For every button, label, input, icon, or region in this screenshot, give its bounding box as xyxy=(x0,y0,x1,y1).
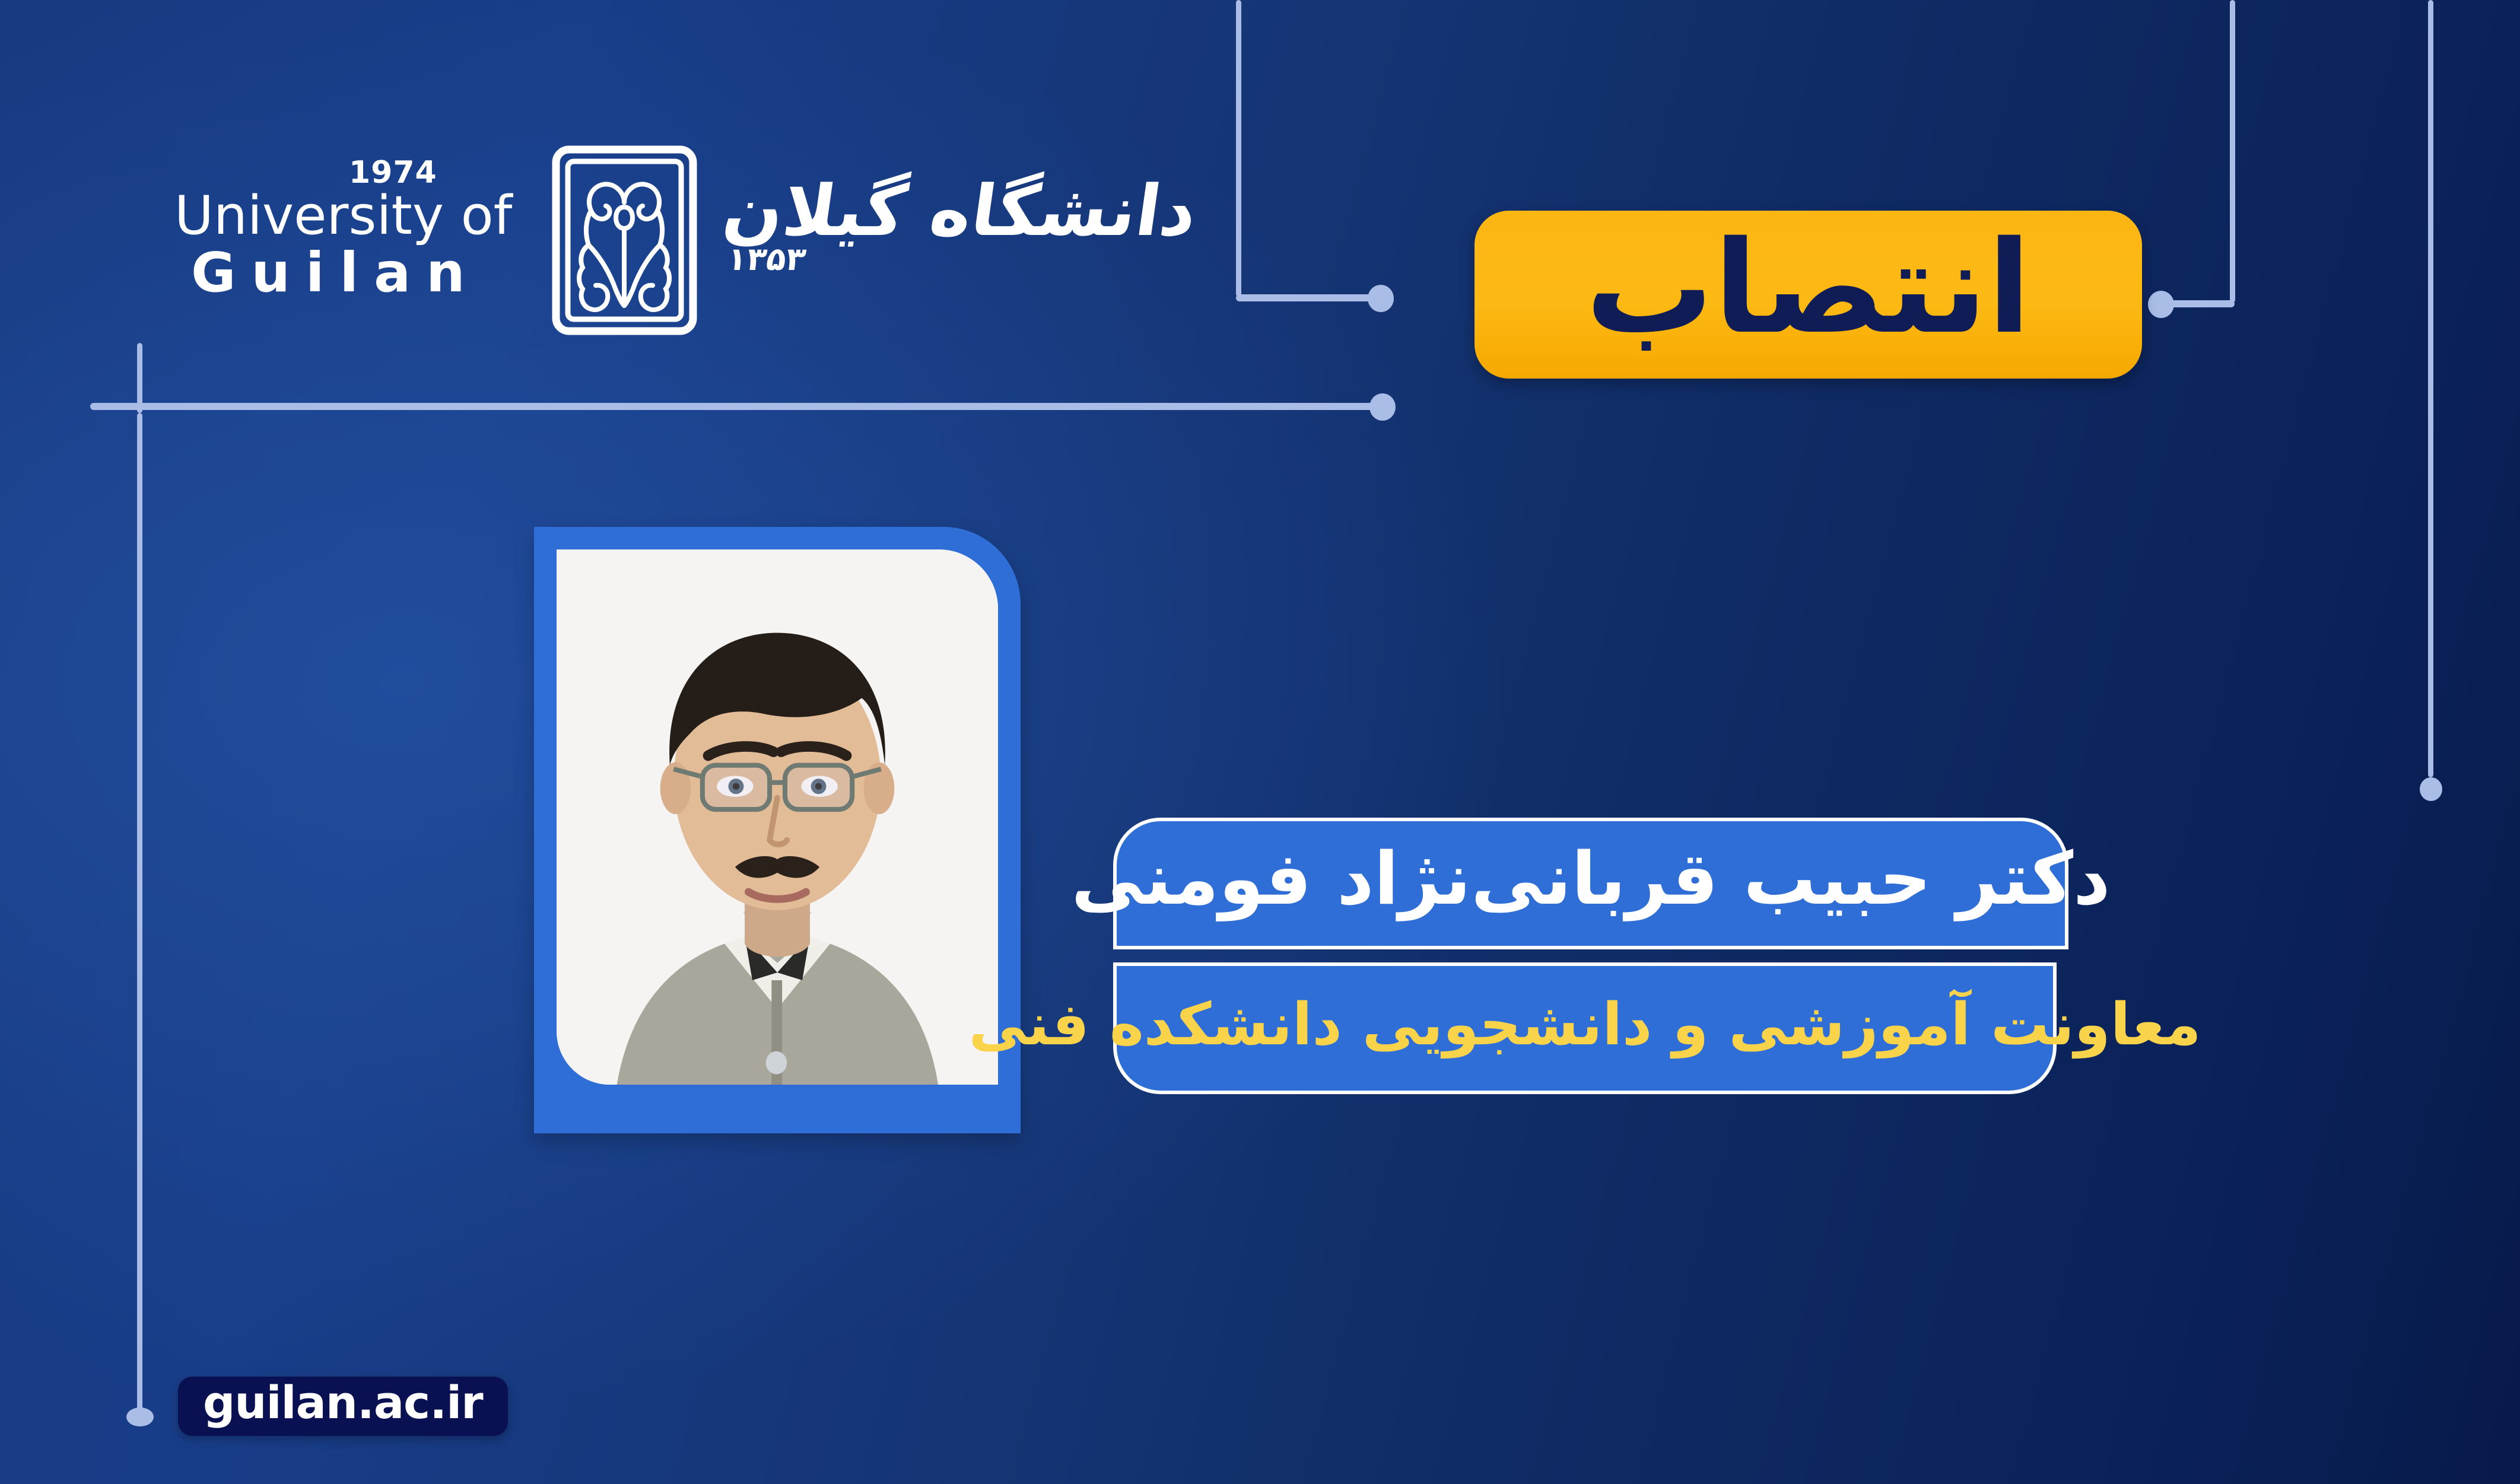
decor-line-vertical-headline-right xyxy=(2230,0,2235,303)
decor-dot-logo-line-end xyxy=(1369,393,1396,421)
logo-year-fa: ۱۳۵۳ xyxy=(725,240,809,278)
appointee-role: معاونت آموزشی و دانشجویی دانشکده فنی xyxy=(969,996,2201,1054)
decor-dot-far-right xyxy=(2420,777,2442,801)
university-logo: 1974 University of Guilan xyxy=(172,151,1205,347)
appointee-role-banner: معاونت آموزشی و دانشجویی دانشکده فنی xyxy=(1113,962,2057,1094)
avatar xyxy=(557,549,998,1085)
decor-line-horizontal-logo xyxy=(90,403,1377,410)
decor-line-vertical-left-long xyxy=(137,413,142,1415)
website-url: guilan.ac.ir xyxy=(203,1380,483,1425)
logo-english-lockup: 1974 University of Guilan xyxy=(172,157,528,301)
decor-line-vertical-headline-left xyxy=(1236,0,1241,297)
portrait-frame xyxy=(534,527,1021,1133)
decor-line-horizontal-headline-left xyxy=(1236,294,1377,301)
guilan-emblem-icon xyxy=(552,145,697,338)
appointee-name: دکتر حبیب قربانی‌نژاد فومنی xyxy=(1071,843,2110,915)
appointee-name-banner: دکتر حبیب قربانی‌نژاد فومنی xyxy=(1113,818,2068,949)
decor-dot-headline-right xyxy=(2148,291,2174,318)
logo-persian-lockup: دانشگاه گیلان ۱۳۵۳ xyxy=(724,158,1196,263)
logo-year-en: 1974 xyxy=(349,157,528,188)
logo-name-en: Guilan xyxy=(191,244,528,302)
decor-dot-headline-left xyxy=(1368,285,1394,312)
appointment-poster: 1974 University of Guilan xyxy=(0,0,2520,1484)
website-url-pill[interactable]: guilan.ac.ir xyxy=(178,1377,508,1436)
headline-label: انتصاب xyxy=(1585,224,2031,351)
logo-university-en: University of xyxy=(174,188,528,244)
decor-dot-left-line-end xyxy=(126,1407,154,1426)
decor-line-vertical-far-right xyxy=(2428,0,2433,777)
headline-badge: انتصاب xyxy=(1474,211,2142,379)
